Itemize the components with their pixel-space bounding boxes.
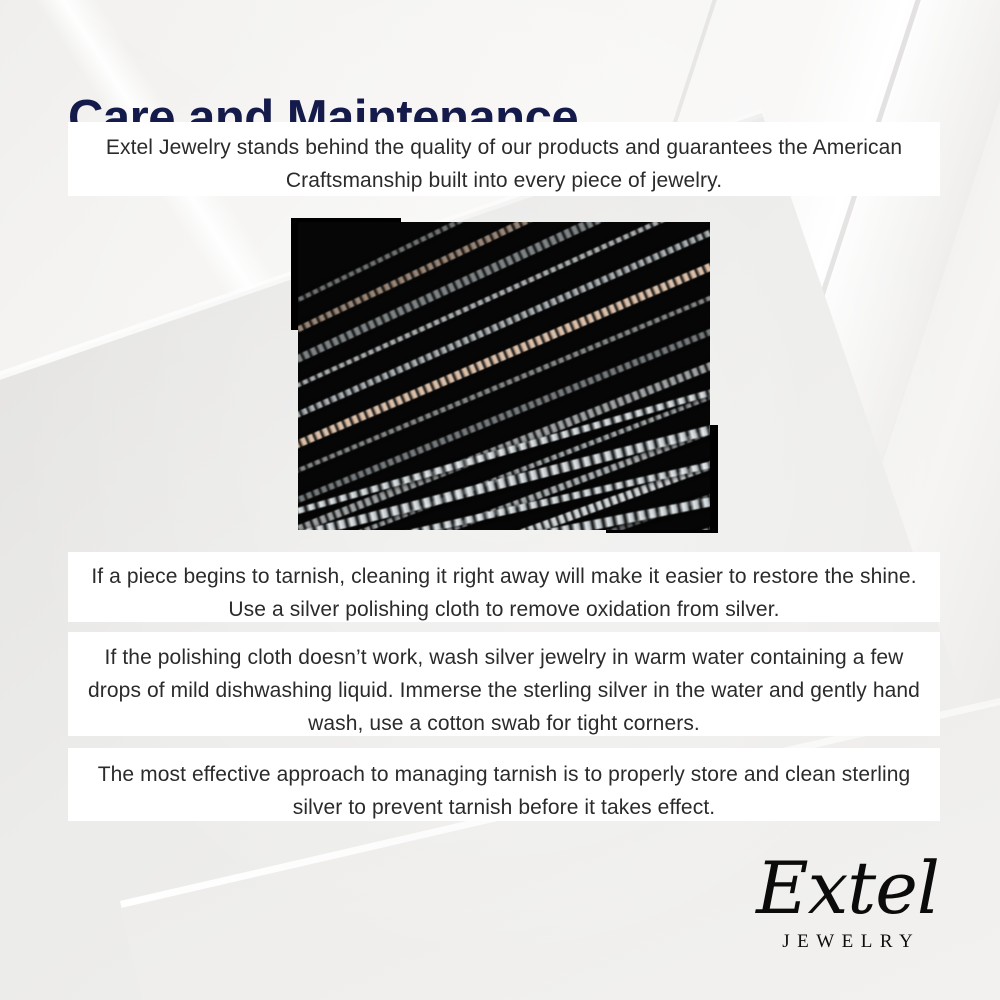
paragraph-card-prevention: The most effective approach to managing … <box>68 748 940 821</box>
chain-necklaces-photo <box>298 222 710 530</box>
care-and-maintenance-poster: Care and Maintenance Extel Jewelry stand… <box>0 0 1000 1000</box>
poster-content: Care and Maintenance Extel Jewelry stand… <box>0 0 1000 1000</box>
paragraph-card-washing-method: If the polishing cloth doesn’t work, was… <box>68 632 940 736</box>
photo-strand-layer <box>298 222 710 530</box>
logo-brand-word: JEWELRY <box>745 931 950 953</box>
paragraph-card-tarnish-cleaning: If a piece begins to tarnish, cleaning i… <box>68 552 940 622</box>
intro-text-card: Extel Jewelry stands behind the quality … <box>68 122 940 196</box>
extel-jewelry-logo: Extel JEWELRY <box>745 845 950 960</box>
logo-brand-script: Extel <box>745 845 950 931</box>
